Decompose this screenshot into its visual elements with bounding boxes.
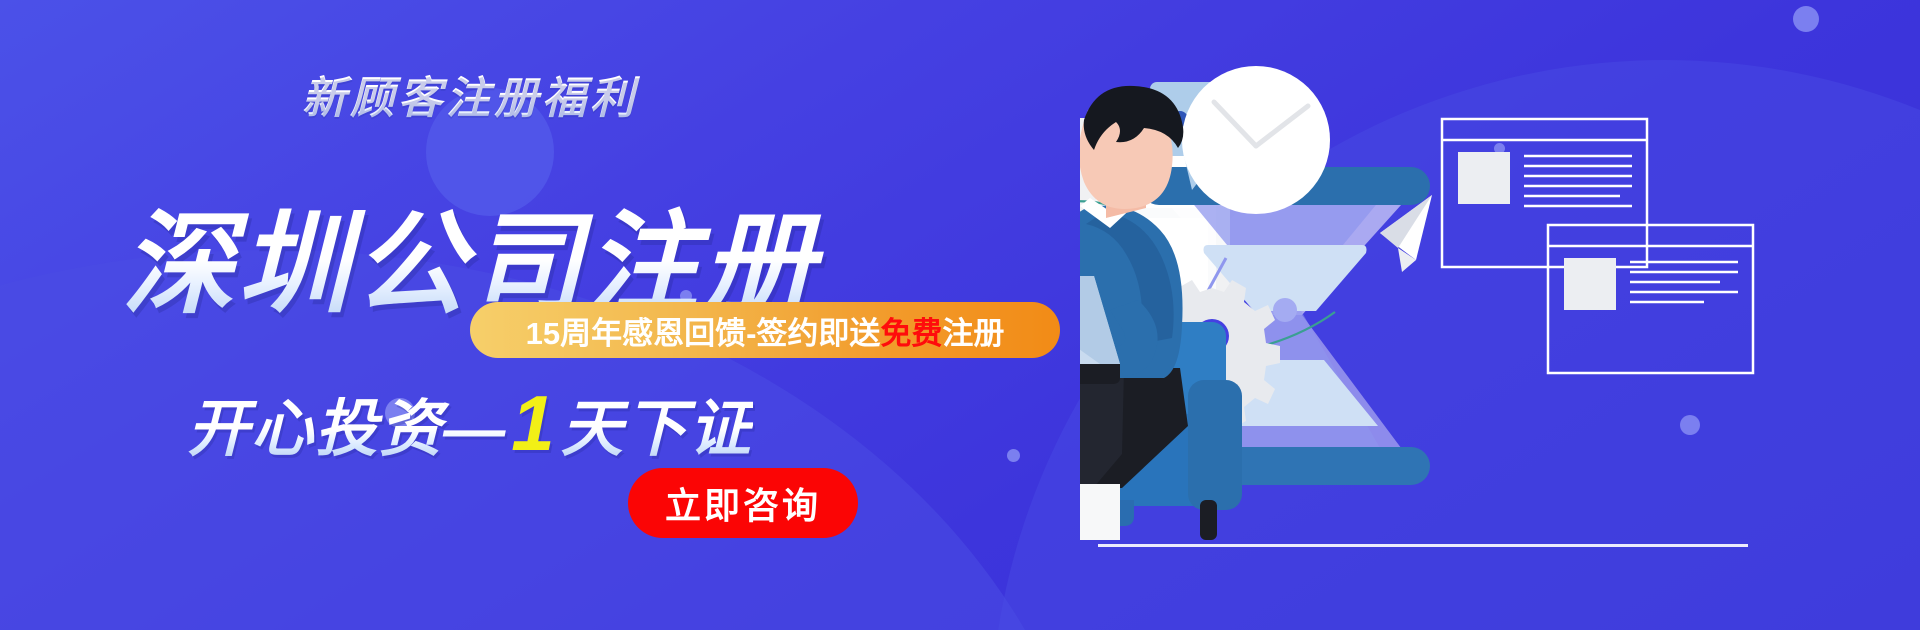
promo-lead: 15周年感恩回馈-签约即送 <box>526 316 881 351</box>
tagline-suffix: 天下证 <box>561 395 753 464</box>
hero-illustration <box>1080 0 1920 630</box>
clock-icon <box>1182 66 1330 214</box>
doc-thumb-1 <box>1458 152 1510 204</box>
consult-now-button[interactable]: 立即咨询 <box>628 468 858 538</box>
doc-thumb-2 <box>1564 258 1616 310</box>
promo-pill-text: 15周年感恩回馈-签约即送免费注册 <box>526 308 1005 353</box>
tagline-number: 1 <box>507 379 560 467</box>
consult-now-label: 立即咨询 <box>665 477 821 529</box>
tagline: 开心投资—1天下证 <box>0 378 940 469</box>
doc-text-lines-1 <box>1524 156 1632 206</box>
copy-block: 新顾客注册福利 深圳公司注册 15周年感恩回馈-签约即送免费注册 开心投资—1天… <box>0 0 1100 630</box>
promo-highlight: 免费 <box>880 316 942 351</box>
tagline-prefix: 开心投资— <box>187 395 507 464</box>
promo-trail: 注册 <box>942 316 1004 351</box>
promotional-banner: 新顾客注册福利 深圳公司注册 15周年感恩回馈-签约即送免费注册 开心投资—1天… <box>0 0 1920 630</box>
eyebrow-text: 新顾客注册福利 <box>0 62 940 126</box>
promo-pill: 15周年感恩回馈-签约即送免费注册 <box>470 302 1060 358</box>
